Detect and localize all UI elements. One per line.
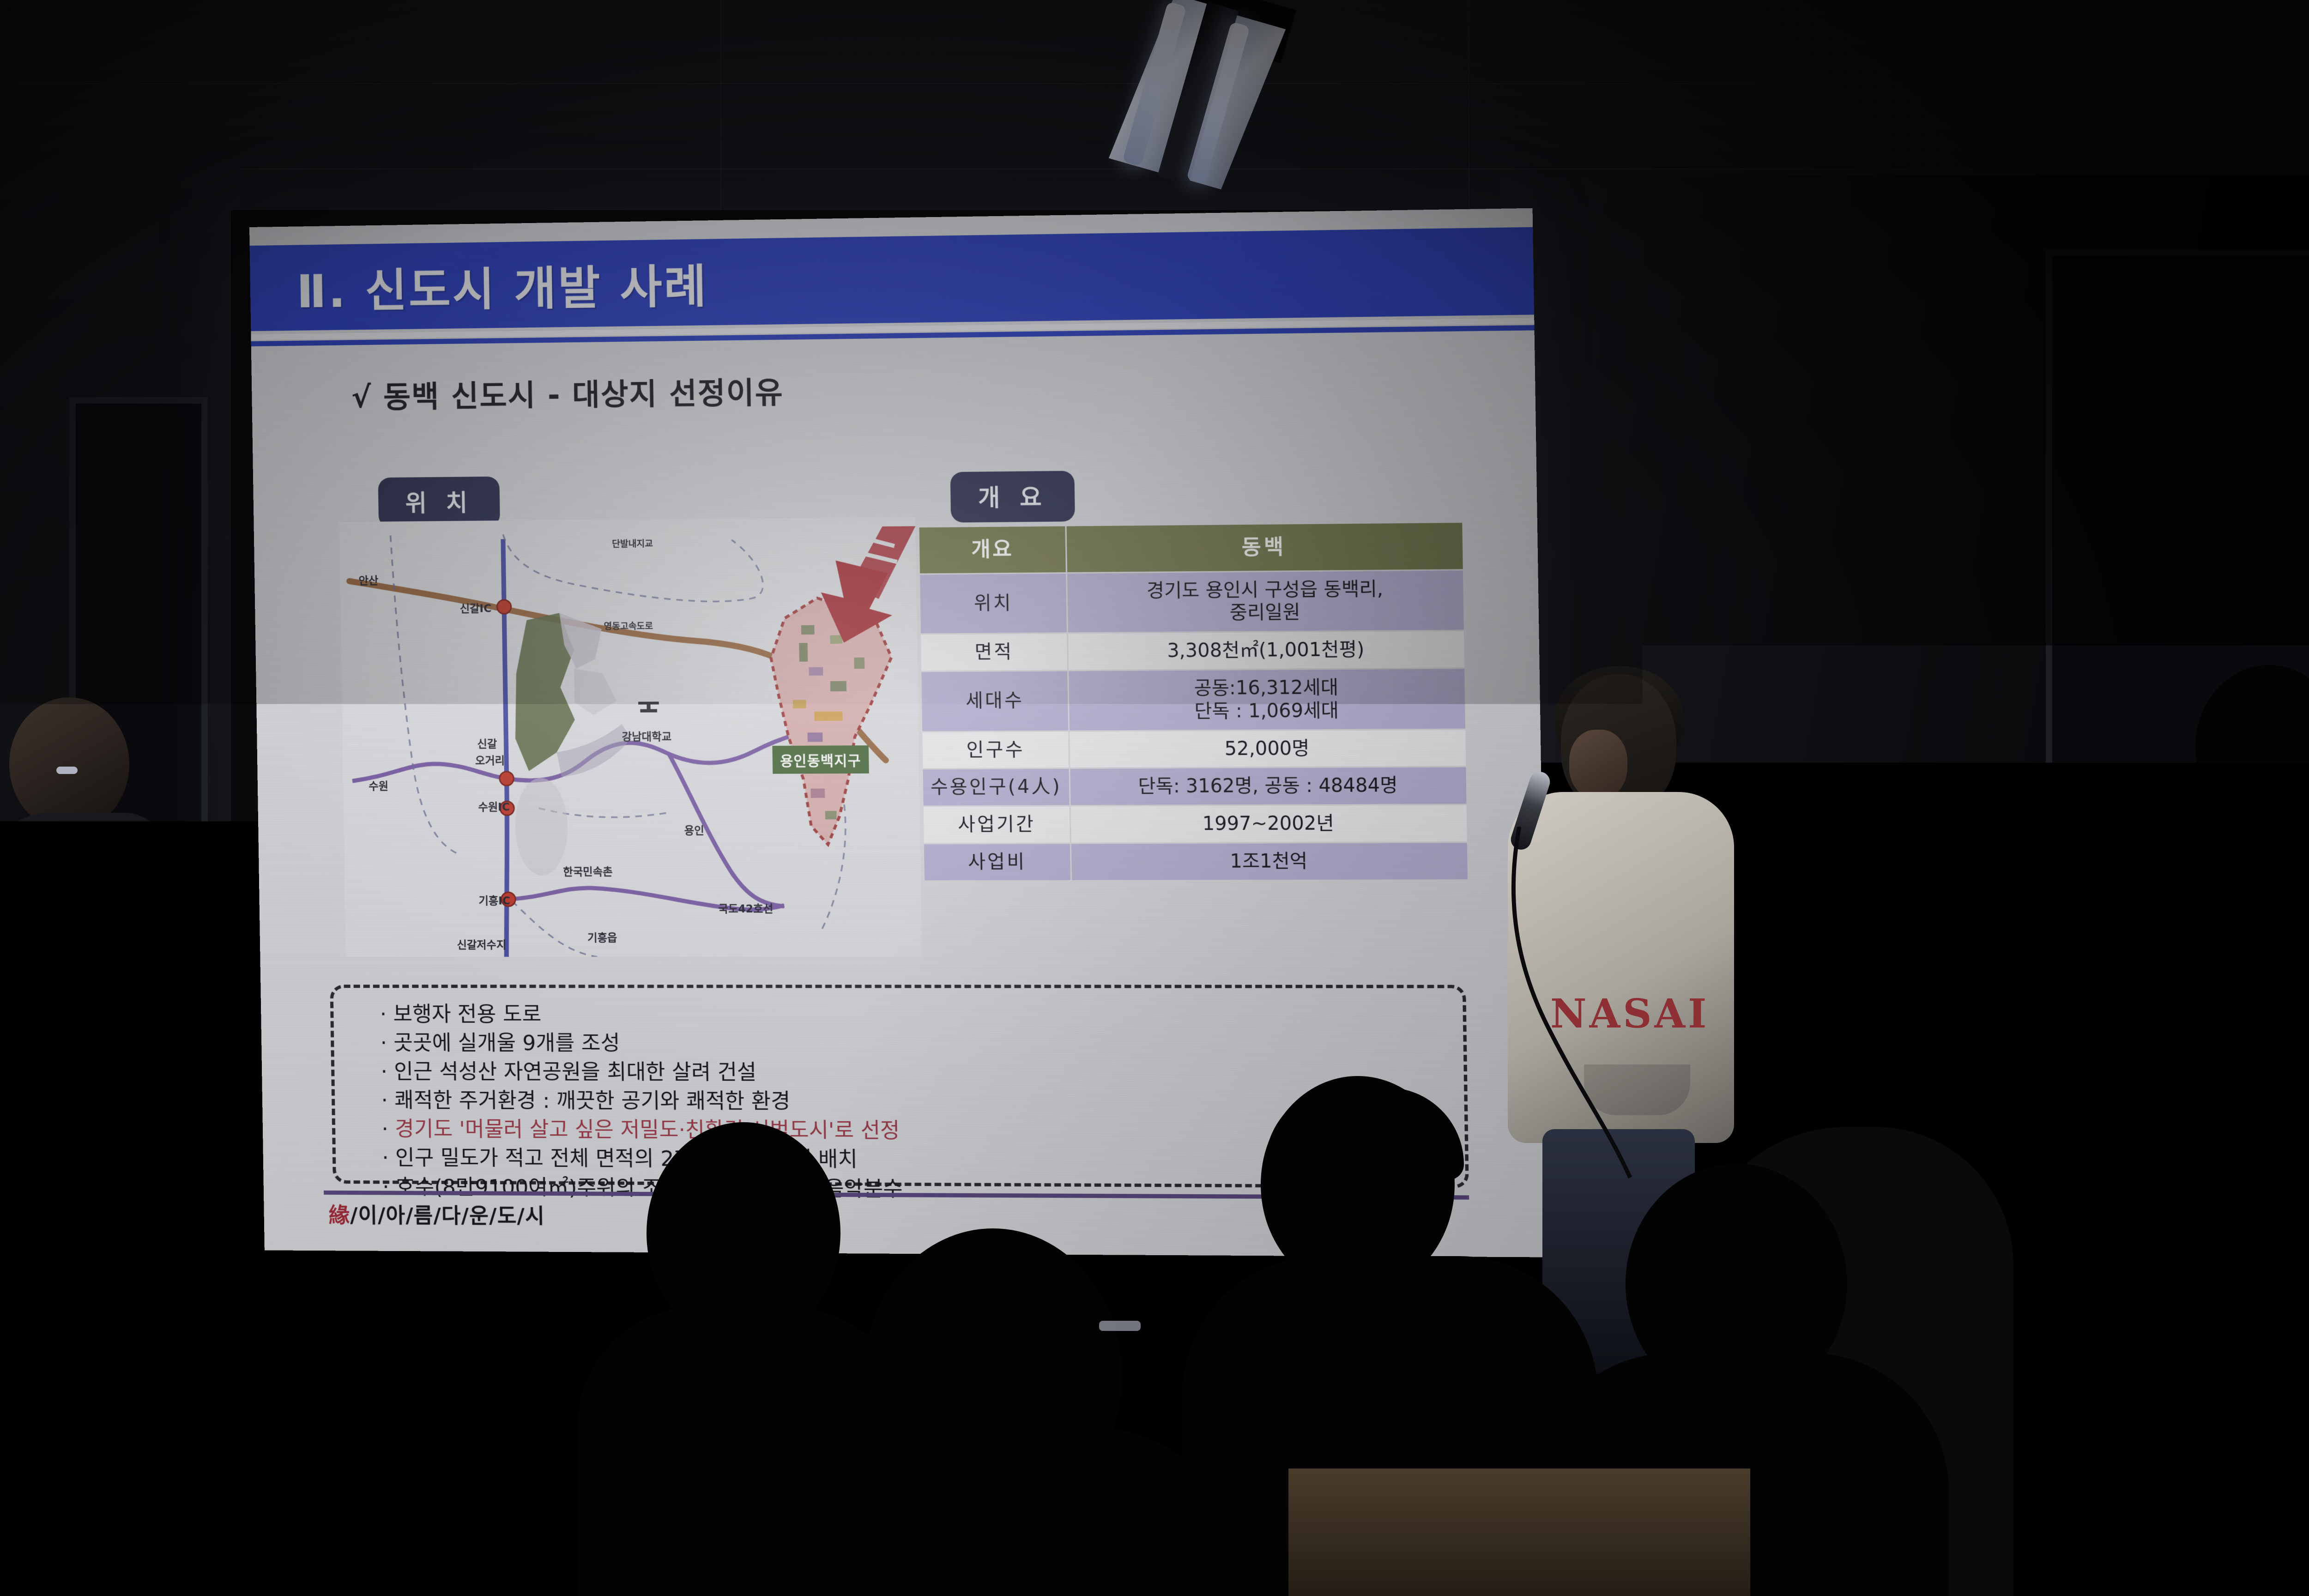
table-row: 위치경기도 용인시 구성읍 동백리,중리일원 xyxy=(919,570,1465,635)
map-district-badge: 용인동백지구 xyxy=(772,745,869,774)
torso xyxy=(0,813,166,1251)
feature-bullet-item: 인구 밀도가 적고 전체 면적의 27%에 단독주택 배치 xyxy=(382,1144,902,1175)
summary-table: 개요동백위치경기도 용인시 구성읍 동백리,중리일원면적3,308천㎡(1,00… xyxy=(918,521,1469,882)
location-map: 안산신갈IC영동고속도로단발내지교강남대학교신갈오거리수원수원IC기흥IC한국민… xyxy=(339,517,922,957)
map-label: 기흥읍 xyxy=(587,929,617,944)
map-label: 한국민속촌 xyxy=(563,863,613,878)
footer-text: /이/아/름/다/운/도/시 xyxy=(350,1203,545,1228)
table-key-cell: 세대수 xyxy=(921,671,1069,731)
footer-logo-icon: 緣 xyxy=(328,1203,350,1227)
table-key-cell: 수용인구(4人) xyxy=(922,768,1070,806)
table-key-cell: 인구수 xyxy=(922,731,1070,769)
audience-eyeglass-glint xyxy=(1099,1321,1141,1331)
table-key-cell: 사업비 xyxy=(923,843,1071,881)
table-value-cell: 3,308천㎡(1,001천평) xyxy=(1067,630,1465,671)
feature-bullet-item: 곳곳에 실개울 9개를 조성 xyxy=(380,1029,901,1058)
slide-title-bar: Ⅱ. 신도시 개발 사례 xyxy=(250,227,1534,331)
map-label: 수원IC xyxy=(478,798,510,814)
map-label: 신갈저수지 xyxy=(457,936,506,952)
feature-bullet-item: 보행자 전용 도로 xyxy=(380,1000,900,1029)
map-label: 국도42호선 xyxy=(718,900,773,915)
table-value-cell: 1조1천억 xyxy=(1070,842,1468,881)
table-value-cell: 52,000명 xyxy=(1069,729,1467,768)
table-header-cell: 동백 xyxy=(1066,522,1463,573)
section-tag-summary: 개 요 xyxy=(950,471,1076,522)
presenter-face xyxy=(1569,730,1627,799)
bullet-highlight-text: 경기도 '머물러 살고 싶은 저밀도·친환경 시범도시'로 선정 xyxy=(395,1117,900,1143)
table-header-cell: 개요 xyxy=(919,526,1066,574)
table-value-cell: 공동:16,312세대단독 : 1,069세대 xyxy=(1068,668,1466,731)
seated-person-right xyxy=(2135,665,2309,1312)
lecture-hall-scene: Ⅱ. 신도시 개발 사례 √ 동백 신도시 - 대상지 선정이유 위 치 개 요 xyxy=(0,0,2309,1596)
table-row: 면적3,308천㎡(1,001천평) xyxy=(920,630,1465,671)
map-label: 기흥IC xyxy=(478,892,510,907)
section-tag-location: 위 치 xyxy=(378,477,501,528)
feature-bullet-item: 인근 석성산 자연공원을 최대한 살려 건설 xyxy=(381,1058,901,1088)
map-label: 수원 xyxy=(369,777,388,793)
table-row: 사업기간1997~2002년 xyxy=(923,804,1468,844)
torso xyxy=(2135,794,2309,1312)
feature-bullet-item: 쾌적한 주거환경 : 깨끗한 공기와 쾌적한 환경 xyxy=(381,1086,901,1116)
table-row: 인구수52,000명 xyxy=(922,729,1467,769)
map-label: 안산 xyxy=(358,572,378,587)
slide-title: Ⅱ. 신도시 개발 사례 xyxy=(296,249,708,320)
table-row: 수용인구(4人)단독: 3162명, 공동 : 48484명 xyxy=(922,767,1467,806)
map-label: 강남대학교 xyxy=(622,728,671,744)
table-key-cell: 위치 xyxy=(919,573,1068,634)
map-label: 신갈 xyxy=(477,735,497,751)
table-key-cell: 면적 xyxy=(920,633,1068,671)
table-row: 세대수공동:16,312세대단독 : 1,069세대 xyxy=(921,668,1466,731)
head xyxy=(9,697,129,831)
slide-subtitle: √ 동백 신도시 - 대상지 선정이유 xyxy=(351,369,784,416)
map-label: 영동고속도로 xyxy=(604,619,653,632)
map-label: 용인 xyxy=(684,822,704,837)
map-label: 단발내지교 xyxy=(612,537,653,550)
table-header-row: 개요동백 xyxy=(919,522,1463,574)
table-value-cell: 단독: 3162명, 공동 : 48484명 xyxy=(1070,767,1467,806)
table-value-cell: 1997~2002년 xyxy=(1070,804,1468,843)
feature-bullet-item: 경기도 '머물러 살고 싶은 저밀도·친환경 시범도시'로 선정 xyxy=(381,1115,902,1145)
slide-footer: 緣/이/아/름/다/운/도/시 xyxy=(328,1198,545,1229)
table-key-cell: 사업기간 xyxy=(923,806,1070,844)
table-value-cell: 경기도 용인시 구성읍 동백리,중리일원 xyxy=(1067,570,1465,633)
eyeglass-glint xyxy=(56,767,78,774)
desk-front xyxy=(1288,1469,1750,1596)
desk-left xyxy=(175,1376,582,1596)
table-row: 사업비1조1천억 xyxy=(923,842,1468,881)
map-label: 오거리 xyxy=(475,752,505,768)
map-label: 신갈IC xyxy=(460,599,492,616)
audience-shoulders-2 xyxy=(748,1427,1247,1596)
seated-person-left xyxy=(0,697,175,1251)
